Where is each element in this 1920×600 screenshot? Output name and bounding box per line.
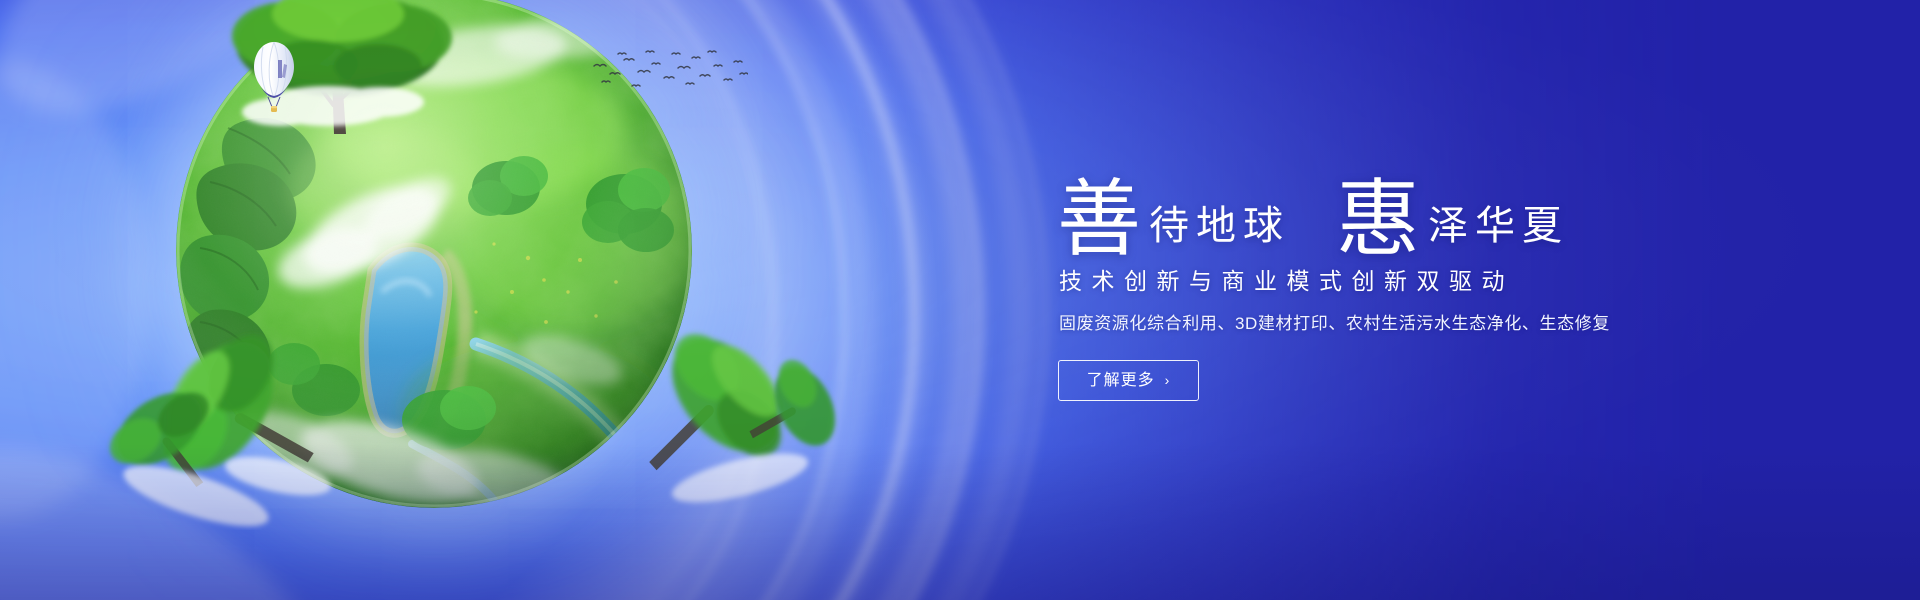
page-subtitle: 技术创新与商业模式创新双驱动 <box>1059 270 1797 293</box>
eco-hero-banner: 善 待地球 惠 泽华夏 技术创新与商业模式创新双驱动 固废资源化综合利用、3D建… <box>0 0 1920 600</box>
page-title: 善 待地球 惠 泽华夏 <box>1057 150 1797 254</box>
headline-big-char-1: 善 <box>1057 181 1141 258</box>
trees-on-globe-left <box>100 300 350 530</box>
learn-more-button[interactable]: 了解更多 › <box>1058 360 1199 401</box>
headline-rest-2: 泽华夏 <box>1428 206 1569 246</box>
headline-phrase-1: 善 待地球 <box>1057 177 1290 254</box>
headline-big-char-2: 惠 <box>1336 181 1420 258</box>
green-planet-globe <box>176 0 692 508</box>
learn-more-label: 了解更多 <box>1087 373 1155 389</box>
hot-air-balloon-icon <box>251 40 297 116</box>
trees-on-globe-right <box>620 290 840 520</box>
headline-rest-1: 待地球 <box>1149 206 1290 246</box>
bird-flock-icon <box>588 46 748 94</box>
chevron-right-icon: › <box>1165 373 1171 387</box>
page-description: 固废资源化综合利用、3D建材打印、农村生活污水生态净化、生态修复 <box>1059 315 1797 332</box>
headline-phrase-2: 惠 泽华夏 <box>1336 177 1569 254</box>
tree-on-globe-top <box>208 0 468 136</box>
hero-content: 善 待地球 惠 泽华夏 技术创新与商业模式创新双驱动 固废资源化综合利用、3D建… <box>1057 150 1797 401</box>
